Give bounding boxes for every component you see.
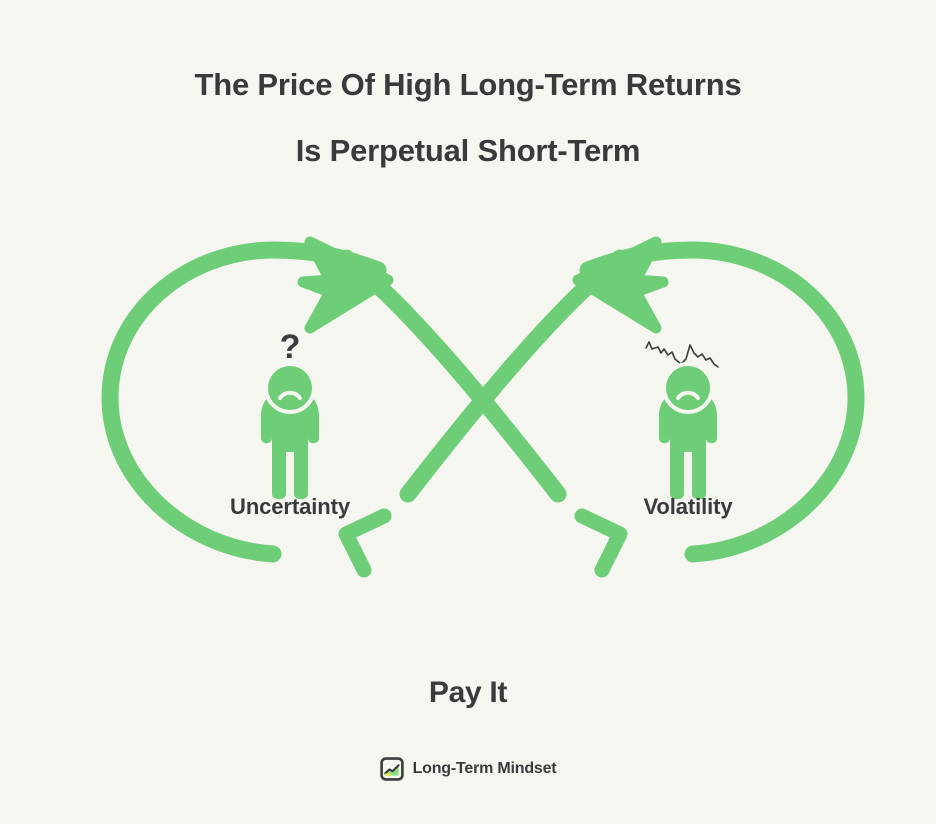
title-line-2: Is Perpetual Short-Term	[0, 118, 936, 184]
question-mark-icon: ?	[280, 328, 301, 366]
arrowhead-center-right	[582, 516, 620, 570]
caption-pay-it: Pay It	[0, 676, 936, 710]
arrowhead-center-left	[346, 516, 384, 570]
page-title: The Price Of High Long-Term Returns Is P…	[0, 52, 936, 184]
arrowhead-right-top	[578, 242, 663, 328]
infographic-poster: The Price Of High Long-Term Returns Is P…	[0, 0, 936, 824]
node-label-volatility: Volatility	[578, 494, 798, 520]
brand-name: Long-Term Mindset	[413, 760, 557, 778]
area-chart-icon	[380, 757, 404, 781]
sad-person-figure	[659, 362, 717, 499]
title-line-1: The Price Of High Long-Term Returns	[0, 52, 936, 118]
arc-center-left-to-right	[346, 258, 558, 494]
figure-volatility	[628, 326, 748, 506]
infinity-cycle-diagram	[88, 236, 878, 586]
arc-center-right-to-left	[408, 258, 620, 494]
figure-uncertainty: ?	[230, 326, 350, 506]
sad-person-figure	[261, 362, 319, 499]
node-label-uncertainty: Uncertainty	[180, 494, 400, 520]
brand-footer: Long-Term Mindset	[0, 757, 936, 781]
arrowhead-left-top	[303, 242, 388, 328]
